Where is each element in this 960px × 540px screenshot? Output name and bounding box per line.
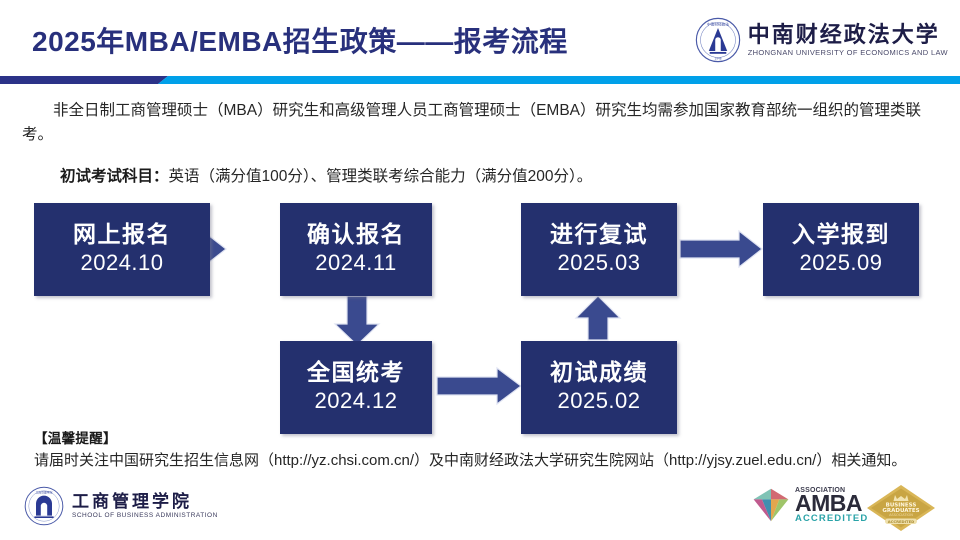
flow-node-title: 入学报到: [792, 221, 890, 247]
university-name-block: 中南财经政法大学 ZHONGNAN UNIVERSITY OF ECONOMIC…: [748, 23, 948, 57]
flow-node-second-interview[interactable]: 进行复试 2025.03: [521, 203, 677, 296]
arrow-confirm-to-exam[interactable]: [335, 296, 379, 345]
amba-logo: ASSOCIATION AMBA ACCREDITED: [752, 487, 868, 523]
flow-node-date: 2025.09: [799, 249, 882, 278]
note-text: 请届时关注中国研究生招生信息网（http://yz.chsi.com.cn/）及…: [34, 449, 906, 470]
arrow-exam-to-score[interactable]: [437, 368, 521, 404]
svg-text:ASSOCIATION: ASSOCIATION: [889, 513, 913, 517]
bga-badge-icon: BUSINESS GRADUATES ASSOCIATION ACCREDITE…: [866, 484, 936, 532]
amba-text-block: ASSOCIATION AMBA ACCREDITED: [795, 487, 868, 523]
flow-node-date: 2024.11: [315, 249, 396, 278]
flow-node-title: 全国统考: [307, 359, 405, 385]
paragraph-subjects: 初试考试科目：英语（满分值100分）、管理类联考综合能力（满分值200分）。: [60, 165, 940, 189]
note-heading: 【温馨提醒】: [34, 427, 117, 447]
school-logo: 工商管理学院 工商管理学院 SCHOOL OF BUSINESS ADMINIS…: [24, 486, 218, 526]
slide-root: 2025年MBA/EMBA招生政策——报考流程 中南财经政法 1948 中南财经…: [0, 0, 960, 540]
flow-node-enrollment-report[interactable]: 入学报到 2025.09: [763, 203, 919, 296]
flow-node-date: 2024.10: [80, 249, 163, 278]
university-crest-icon: 中南财经政法 1948: [695, 17, 741, 63]
flow-node-national-exam[interactable]: 全国统考 2024.12: [280, 341, 432, 434]
flow-node-first-exam-score[interactable]: 初试成绩 2025.02: [521, 341, 677, 434]
flow-node-date: 2025.03: [557, 249, 640, 278]
school-name-en: SCHOOL OF BUSINESS ADMINISTRATION: [72, 512, 218, 519]
flow-node-online-registration[interactable]: 网上报名 2024.10: [34, 203, 210, 296]
flow-node-date: 2024.12: [314, 387, 397, 416]
svg-text:ACCREDITED: ACCREDITED: [888, 520, 915, 524]
arrow-score-to-interview[interactable]: [576, 296, 620, 340]
university-name-en: ZHONGNAN UNIVERSITY OF ECONOMICS AND LAW: [748, 48, 948, 57]
school-name-cn: 工商管理学院: [72, 493, 218, 511]
amba-gem-icon: [752, 488, 790, 522]
flow-node-title: 初试成绩: [550, 359, 648, 385]
flow-node-date: 2025.02: [557, 387, 640, 416]
paragraph-subjects-label: 初试考试科目：: [60, 168, 169, 185]
svg-text:工商管理学院: 工商管理学院: [36, 491, 53, 495]
school-crest-icon: 工商管理学院: [24, 486, 64, 526]
amba-wordmark: AMBA: [795, 494, 868, 514]
flow-node-confirm-registration[interactable]: 确认报名 2024.11: [280, 203, 432, 296]
arrow-interview-to-enroll[interactable]: [680, 231, 762, 267]
svg-text:中南财经政法: 中南财经政法: [707, 21, 729, 26]
header-divider: [0, 76, 960, 84]
flow-node-title: 确认报名: [307, 221, 405, 247]
flow-node-title: 进行复试: [550, 221, 648, 247]
university-name-cn: 中南财经政法大学: [748, 23, 948, 46]
paragraph-subjects-rest: 英语（满分值100分）、管理类联考综合能力（满分值200分）。: [169, 168, 593, 185]
svg-text:1948: 1948: [714, 56, 721, 60]
flow-node-title: 网上报名: [73, 221, 171, 247]
page-title: 2025年MBA/EMBA招生政策——报考流程: [32, 20, 568, 60]
university-logo: 中南财经政法 1948 中南财经政法大学 ZHONGNAN UNIVERSITY…: [695, 17, 948, 63]
school-name-block: 工商管理学院 SCHOOL OF BUSINESS ADMINISTRATION: [72, 493, 218, 520]
amba-accredited-label: ACCREDITED: [795, 514, 868, 524]
paragraph-intro: 非全日制工商管理硕士（MBA）研究生和高级管理人员工商管理硕士（EMBA）研究生…: [22, 99, 942, 147]
